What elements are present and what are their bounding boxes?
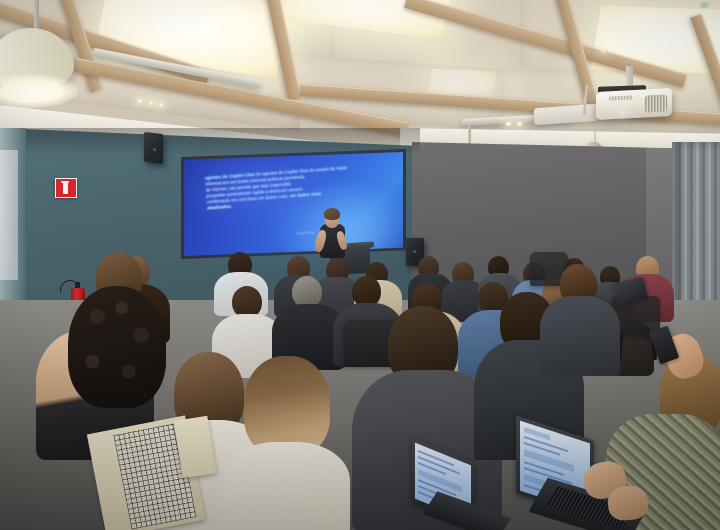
fire-sign-handle-icon bbox=[61, 181, 69, 183]
downlight-icon bbox=[600, 48, 608, 53]
projector-lens-icon bbox=[620, 111, 625, 115]
slide-line-highlight: em dados reais bbox=[290, 191, 321, 198]
audience-head bbox=[244, 356, 330, 456]
conference-room-photo: agentes do Copilot Chat Os agentes do Co… bbox=[0, 0, 720, 530]
downlight-icon bbox=[158, 103, 164, 107]
downlight-icon bbox=[148, 101, 154, 105]
door-frame bbox=[0, 150, 18, 280]
presenter-hair bbox=[324, 208, 340, 220]
audience-torso bbox=[540, 296, 620, 376]
projector-vent bbox=[645, 94, 667, 112]
downlight-icon bbox=[137, 99, 143, 103]
downlight-icon bbox=[516, 122, 523, 126]
speaker-driver-icon bbox=[413, 250, 416, 253]
laptop-front-center[interactable] bbox=[412, 450, 508, 530]
downlight-icon bbox=[505, 122, 512, 126]
audience-torso bbox=[222, 442, 350, 530]
ceiling-sensor bbox=[700, 2, 709, 8]
speaker-driver-icon bbox=[153, 148, 156, 151]
curly-hair-head bbox=[68, 286, 166, 408]
fire-sign-glyph-icon bbox=[63, 182, 68, 194]
